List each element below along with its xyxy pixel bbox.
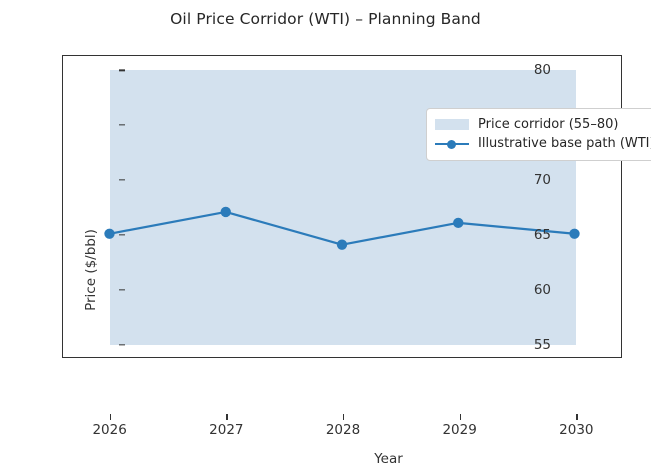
x-tick-mark (576, 414, 577, 420)
data-point (221, 207, 231, 217)
y-tick-label: 65 (511, 227, 551, 243)
x-tick-label: 2030 (536, 422, 616, 438)
data-point (569, 229, 579, 239)
chart-legend: Price corridor (55–80) Illustrative base… (426, 108, 651, 161)
x-tick-mark (110, 414, 111, 420)
y-tick-mark (119, 125, 125, 126)
chart-figure: Oil Price Corridor (WTI) – Planning Band… (0, 0, 651, 427)
x-axis-label: Year (63, 451, 651, 467)
legend-item-corridor: Price corridor (55–80) (435, 115, 651, 134)
y-tick-mark (119, 289, 125, 290)
y-tick-label: 80 (511, 62, 551, 78)
series-layer (63, 56, 621, 357)
data-point (104, 229, 114, 239)
legend-item-base-path: Illustrative base path (WTI) (435, 134, 651, 153)
x-tick-label: 2026 (70, 422, 150, 438)
y-tick-label: 70 (511, 172, 551, 188)
base-path-swatch-icon (435, 137, 469, 151)
x-tick-label: 2027 (186, 422, 266, 438)
data-point (453, 218, 463, 228)
x-tick-label: 2028 (303, 422, 383, 438)
x-tick-mark (460, 414, 461, 420)
y-tick-label: 55 (511, 337, 551, 353)
plot-clip (63, 56, 621, 357)
legend-label-base-path: Illustrative base path (WTI) (478, 136, 651, 151)
y-tick-mark (119, 179, 125, 180)
y-tick-label: 60 (511, 282, 551, 298)
x-tick-mark (343, 414, 344, 420)
plot-area: Price ($/bbl) Year 556065707580 20262027… (62, 55, 622, 358)
corridor-swatch-icon (435, 119, 469, 130)
x-tick-mark (226, 414, 227, 420)
y-tick-mark (119, 70, 125, 71)
legend-label-corridor: Price corridor (55–80) (478, 117, 618, 132)
chart-title: Oil Price Corridor (WTI) – Planning Band (0, 10, 651, 28)
y-tick-mark (119, 234, 125, 235)
y-tick-mark (119, 344, 125, 345)
y-axis-label: Price ($/bbl) (83, 180, 99, 360)
x-tick-label: 2029 (420, 422, 500, 438)
data-point (337, 240, 347, 250)
